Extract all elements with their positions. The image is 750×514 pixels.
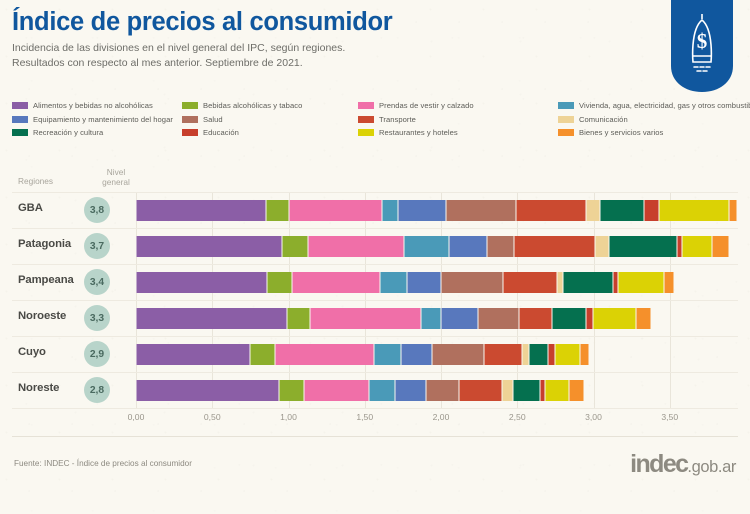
legend-swatch [558, 102, 574, 109]
bar-segment[interactable] [136, 236, 282, 257]
nivel-general-badge: 3,4 [84, 269, 110, 295]
legend-item: Prendas de vestir y calzado [358, 101, 558, 110]
x-axis-tick-label: 2,00 [433, 412, 450, 422]
bar-segment[interactable] [374, 344, 401, 365]
bar-segment[interactable] [636, 308, 651, 329]
legend-swatch [358, 102, 374, 109]
bar-segment[interactable] [712, 236, 729, 257]
legend-item: Vivienda, agua, electricidad, gas y otro… [558, 101, 742, 110]
stacked-bar [136, 236, 729, 257]
bar-segment[interactable] [136, 308, 287, 329]
legend-swatch [182, 102, 198, 109]
legend-label: Comunicación [579, 115, 628, 124]
table-row[interactable]: Pampeana3,4 [0, 264, 750, 300]
brand-domain: .gob.ar [687, 458, 736, 476]
bar-segment[interactable] [459, 380, 502, 401]
x-axis-tick-label: 3,00 [585, 412, 602, 422]
bar-segment[interactable] [398, 200, 445, 221]
bar-segment[interactable] [664, 272, 675, 293]
bar-segment[interactable] [136, 200, 266, 221]
table-row[interactable]: Cuyo2,9 [0, 336, 750, 372]
bar-segment[interactable] [519, 308, 553, 329]
column-header-regions: Regiones [18, 176, 53, 186]
bar-segment[interactable] [503, 272, 556, 293]
footer-divider [12, 436, 738, 437]
bar-segment[interactable] [426, 380, 460, 401]
bar-segment[interactable] [478, 308, 519, 329]
nivel-general-badge: 3,3 [84, 305, 110, 331]
bar-segment[interactable] [484, 344, 522, 365]
bar-segment[interactable] [441, 308, 478, 329]
stacked-bar [136, 344, 589, 365]
column-header-nivel-general: Nivel general [96, 168, 136, 188]
x-axis-tick-label: 0,50 [204, 412, 221, 422]
legend-item: Recreación y cultura [12, 128, 182, 137]
x-axis-tick-label: 3,50 [661, 412, 678, 422]
chart-plot-area: GBA3,8Patagonia3,7Pampeana3,4Noroeste3,3… [0, 192, 750, 408]
bar-segment[interactable] [267, 272, 291, 293]
table-header: Regiones Nivel general [12, 166, 738, 192]
legend-swatch [12, 129, 28, 136]
indec-shield-logo: $ [671, 0, 733, 92]
bar-segment[interactable] [136, 272, 267, 293]
bar-segment[interactable] [729, 200, 737, 221]
stacked-bar [136, 380, 584, 401]
x-axis-tick-label: 1,00 [280, 412, 297, 422]
legend-item: Bienes y servicios varios [558, 128, 742, 137]
legend-label: Transporte [379, 115, 416, 124]
bar-segment[interactable] [380, 272, 407, 293]
bar-segment[interactable] [279, 380, 303, 401]
table-row[interactable]: Patagonia3,7 [0, 228, 750, 264]
legend-item: Educación [182, 128, 358, 137]
bar-segment[interactable] [586, 308, 594, 329]
bar-segment[interactable] [600, 200, 644, 221]
table-row[interactable]: GBA3,8 [0, 192, 750, 228]
region-label: Noroeste [18, 310, 66, 322]
bar-segment[interactable] [287, 308, 310, 329]
x-axis-tick-label: 0,00 [128, 412, 145, 422]
bar-segment[interactable] [136, 380, 279, 401]
bar-segment[interactable] [289, 200, 382, 221]
legend-swatch [558, 129, 574, 136]
bar-segment[interactable] [404, 236, 448, 257]
legend-item: Bebidas alcohólicas y tabaco [182, 101, 358, 110]
bar-segment[interactable] [545, 380, 569, 401]
bar-segment[interactable] [595, 236, 609, 257]
bar-segment[interactable] [586, 200, 600, 221]
bar-segment[interactable] [682, 236, 713, 257]
bar-segment[interactable] [552, 308, 586, 329]
bar-segment[interactable] [502, 380, 513, 401]
legend-swatch [182, 116, 198, 123]
bar-segment[interactable] [516, 200, 586, 221]
bar-segment[interactable] [618, 272, 664, 293]
legend-item: Restaurantes y hoteles [358, 128, 558, 137]
bar-segment[interactable] [593, 308, 636, 329]
bar-segment[interactable] [563, 272, 613, 293]
legend-label: Restaurantes y hoteles [379, 128, 458, 137]
bar-segment[interactable] [548, 344, 556, 365]
bar-segment[interactable] [407, 272, 441, 293]
legend-label: Vivienda, agua, electricidad, gas y otro… [579, 101, 750, 110]
bar-segment[interactable] [292, 272, 380, 293]
bar-segment[interactable] [529, 344, 547, 365]
legend-label: Recreación y cultura [33, 128, 103, 137]
indec-wordmark: indec.gob.ar [630, 452, 736, 477]
region-label: Pampeana [18, 274, 74, 286]
nivel-general-badge: 3,7 [84, 233, 110, 259]
bar-segment[interactable] [432, 344, 484, 365]
legend-swatch [358, 116, 374, 123]
bar-segment[interactable] [310, 308, 421, 329]
nivel-general-badge: 2,9 [84, 341, 110, 367]
x-axis-tick-label: 2,50 [509, 412, 526, 422]
stacked-bar [136, 308, 651, 329]
legend-label: Alimentos y bebidas no alcohólicas [33, 101, 153, 110]
bar-segment[interactable] [569, 380, 584, 401]
legend-swatch [558, 116, 574, 123]
bar-segment[interactable] [275, 344, 374, 365]
legend-swatch [358, 129, 374, 136]
bar-segment[interactable] [659, 200, 729, 221]
bar-segment[interactable] [446, 200, 516, 221]
brand-name: indec [630, 450, 687, 478]
svg-text:$: $ [697, 29, 708, 53]
bar-segment[interactable] [609, 236, 678, 257]
subtitle-line-1: Incidencia de las divisiones en el nivel… [12, 41, 712, 56]
bar-segment[interactable] [513, 380, 540, 401]
nivel-general-line-2: general [96, 178, 136, 188]
legend-item: Alimentos y bebidas no alcohólicas [12, 101, 182, 110]
bar-segment[interactable] [304, 380, 370, 401]
bar-segment[interactable] [421, 308, 441, 329]
bar-segment[interactable] [514, 236, 595, 257]
bar-segment[interactable] [522, 344, 530, 365]
bar-segment[interactable] [308, 236, 404, 257]
legend-item: Salud [182, 115, 358, 124]
page-title: Índice de precios al consumidor [12, 8, 712, 36]
subtitle-line-2: Resultados con respecto al mes anterior.… [12, 56, 712, 71]
x-axis-tick-label: 1,50 [356, 412, 373, 422]
bar-segment[interactable] [250, 344, 274, 365]
stacked-bar [136, 200, 737, 221]
bar-segment[interactable] [644, 200, 659, 221]
source-note: Fuente: INDEC - Índice de precios al con… [14, 459, 192, 468]
region-label: GBA [18, 202, 43, 214]
legend: Alimentos y bebidas no alcohólicasBebida… [12, 99, 742, 140]
legend-label: Prendas de vestir y calzado [379, 101, 474, 110]
bar-segment[interactable] [449, 236, 487, 257]
nivel-general-badge: 3,8 [84, 197, 110, 223]
region-label: Cuyo [18, 346, 46, 358]
bar-segment[interactable] [282, 236, 308, 257]
bar-segment[interactable] [555, 344, 579, 365]
table-row[interactable]: Noroeste3,3 [0, 300, 750, 336]
legend-swatch [12, 102, 28, 109]
bar-segment[interactable] [369, 380, 395, 401]
stacked-bar [136, 272, 674, 293]
x-axis: 0,000,501,001,502,002,503,003,50 [0, 408, 750, 430]
legend-label: Equipamiento y mantenimiento del hogar [33, 115, 173, 124]
bar-segment[interactable] [136, 344, 250, 365]
bar-segment[interactable] [382, 200, 399, 221]
bar-segment[interactable] [401, 344, 432, 365]
bar-segment[interactable] [441, 272, 504, 293]
nivel-general-badge: 2,8 [84, 377, 110, 403]
legend-label: Educación [203, 128, 239, 137]
bar-segment[interactable] [395, 380, 426, 401]
legend-swatch [12, 116, 28, 123]
legend-item: Transporte [358, 115, 558, 124]
bar-segment[interactable] [487, 236, 514, 257]
legend-label: Bebidas alcohólicas y tabaco [203, 101, 302, 110]
bar-segment[interactable] [580, 344, 589, 365]
legend-swatch [182, 129, 198, 136]
legend-item: Comunicación [558, 115, 742, 124]
legend-label: Bienes y servicios varios [579, 128, 663, 137]
bar-segment[interactable] [266, 200, 289, 221]
region-label: Patagonia [18, 238, 71, 250]
table-row[interactable]: Noreste2,8 [0, 372, 750, 408]
legend-item: Equipamiento y mantenimiento del hogar [12, 115, 182, 124]
region-label: Noreste [18, 382, 59, 394]
header: Índice de precios al consumidor Incidenc… [12, 8, 712, 71]
legend-label: Salud [203, 115, 223, 124]
